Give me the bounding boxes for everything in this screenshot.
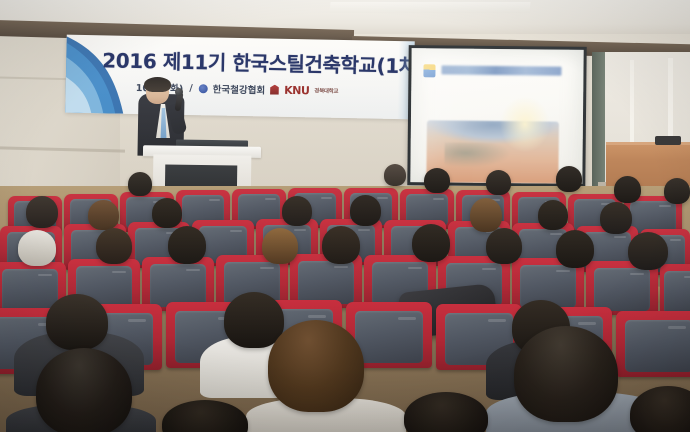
audience-head (88, 200, 119, 230)
banner-org-primary: 한국철강협회 (213, 81, 266, 96)
audience-head (18, 230, 56, 266)
ceiling-light-panel (329, 2, 530, 13)
audience-head (96, 228, 132, 264)
lecture-hall-photo: 2016 제11기 한국스틸건축학교(1차) 10.25(화) / 한국철강협회… (0, 0, 690, 432)
audience-head (628, 232, 668, 270)
audience-head (322, 226, 360, 264)
audience-head (424, 168, 450, 193)
event-banner: 2016 제11기 한국스틸건축학교(1차) 10.25(화) / 한국철강협회… (65, 35, 414, 120)
audience-head (262, 228, 298, 264)
banner-title-text: 2016 제11기 한국스틸건축학교(1차) (102, 44, 410, 79)
rear-equipment-device (655, 136, 681, 145)
audience-head (538, 200, 568, 230)
knu-shield-icon (270, 85, 279, 95)
audience-head (486, 228, 522, 264)
audience-head (556, 230, 594, 268)
audience-head (46, 294, 108, 350)
audience-head (128, 172, 152, 196)
audience-head (384, 164, 406, 186)
korea-iron-steel-association-icon (199, 84, 208, 93)
audience-head (26, 196, 58, 228)
audience-head (614, 176, 641, 203)
audience-head (486, 170, 511, 195)
banner-knu-wordmark: KNU (284, 83, 309, 96)
audience-head (168, 226, 206, 264)
microphone-head-icon (175, 88, 183, 96)
seat (660, 264, 690, 318)
screen-glare (410, 48, 583, 184)
audience-head (556, 166, 582, 192)
presenter-hair (144, 77, 171, 92)
seat (616, 311, 690, 377)
banner-knu-subname: 경북대학교 (314, 86, 338, 94)
foreground-audience-head (36, 348, 132, 432)
audience-head (412, 224, 450, 262)
audience-head (664, 178, 690, 204)
foreground-audience-head (268, 320, 364, 412)
audience-head (600, 202, 632, 234)
banner-separator: / (188, 83, 194, 94)
projection-screen (410, 48, 583, 184)
audience-head (470, 198, 502, 232)
foreground-audience-head (514, 326, 618, 422)
audience-head (350, 195, 381, 226)
audience-head (282, 196, 312, 226)
rear-right-door-edge (592, 52, 605, 202)
audience-head (152, 198, 182, 228)
